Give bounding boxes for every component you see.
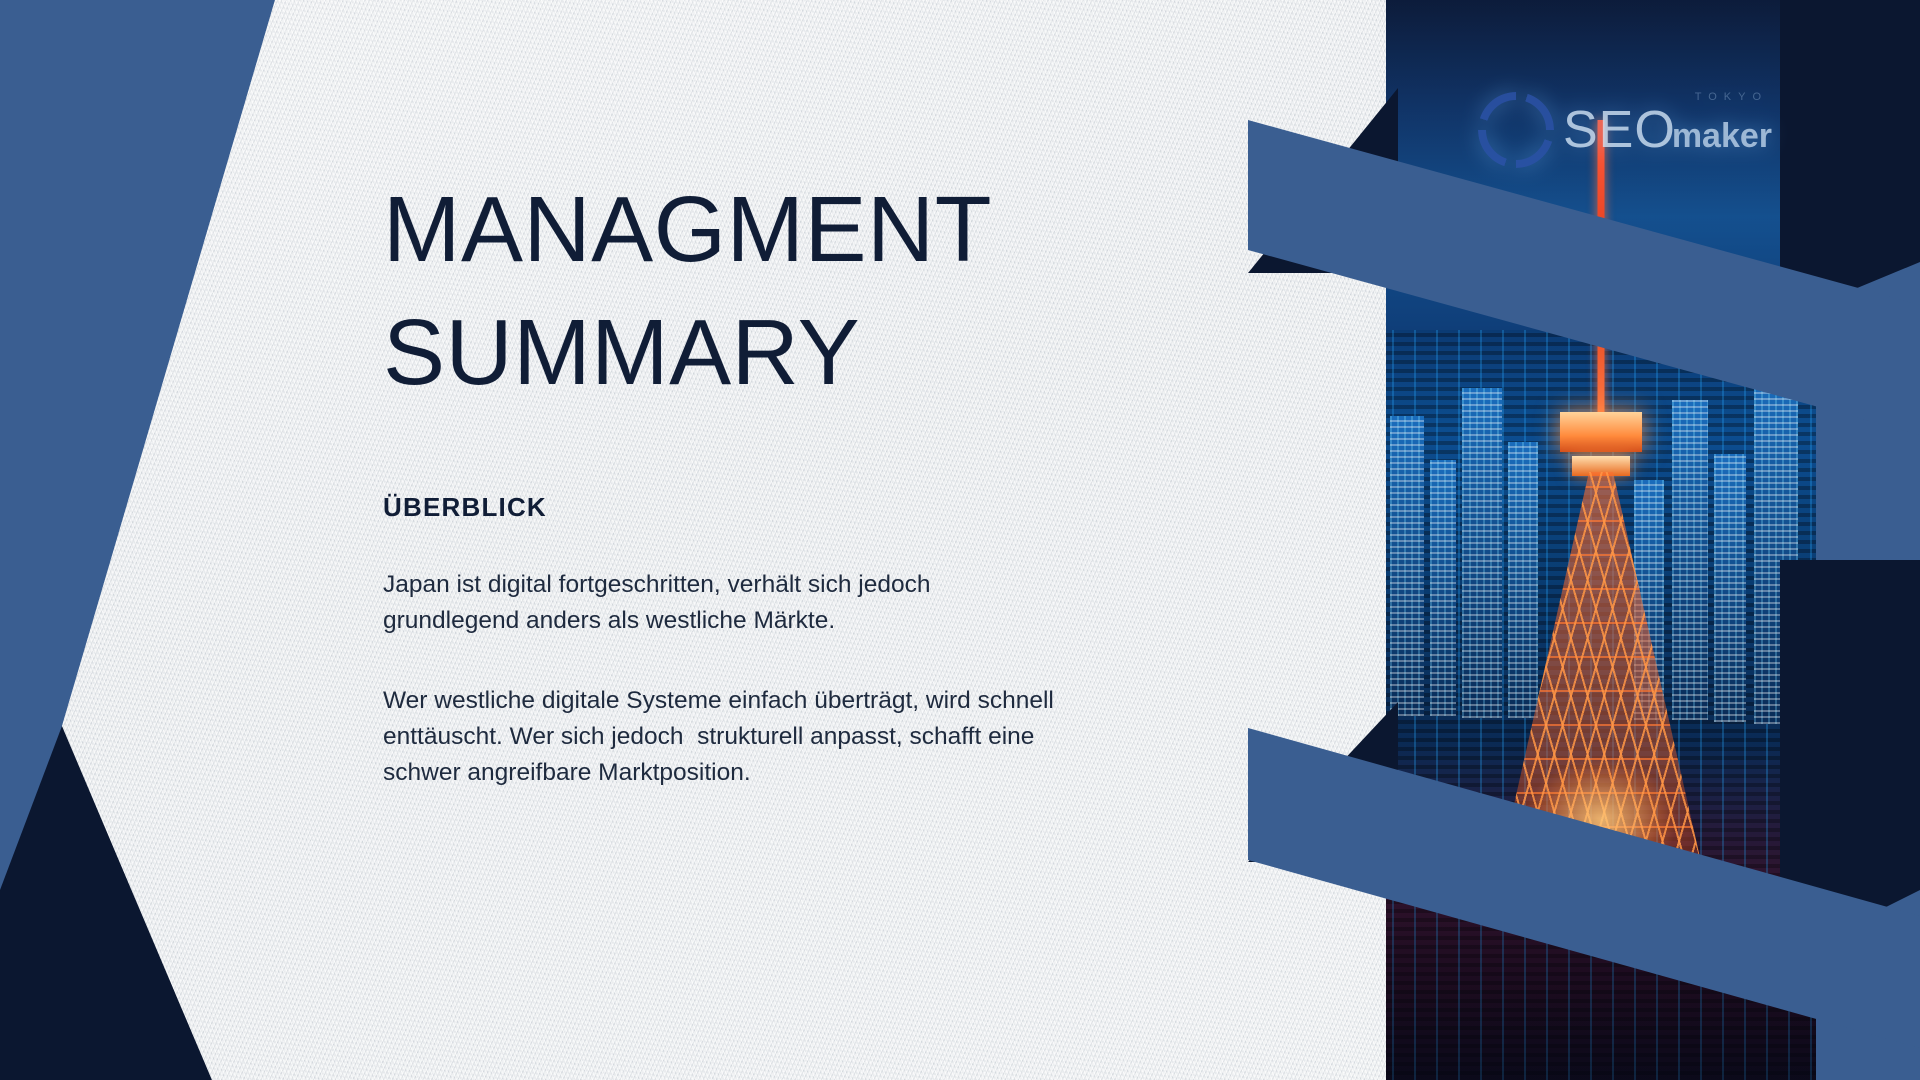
segmented-ring-icon [1478, 92, 1554, 168]
logo-secondary-text: maker [1672, 119, 1772, 153]
body-paragraph-2: Wer westliche digitale Systeme einfach ü… [383, 683, 1063, 791]
logo-primary-text: SEO [1563, 104, 1676, 156]
seomaker-logo: SEO maker TOKYO [1478, 92, 1772, 168]
slide-text-content: MANAGMENT SUMMARY ÜBERBLICK Japan ist di… [383, 0, 1143, 791]
section-kicker: ÜBERBLICK [383, 492, 1143, 523]
slide-title: MANAGMENT SUMMARY [383, 0, 1143, 414]
body-paragraph-1: Japan ist digital fortgeschritten, verhä… [383, 567, 1043, 639]
logo-wordmark: SEO maker TOKYO [1563, 104, 1772, 156]
slide-canvas: SEO maker TOKYO MANAGMENT SUMMARY ÜBERBL… [0, 0, 1920, 1080]
logo-tagline-text: TOKYO [1695, 91, 1768, 103]
navy-edge-upper [1780, 0, 1920, 320]
